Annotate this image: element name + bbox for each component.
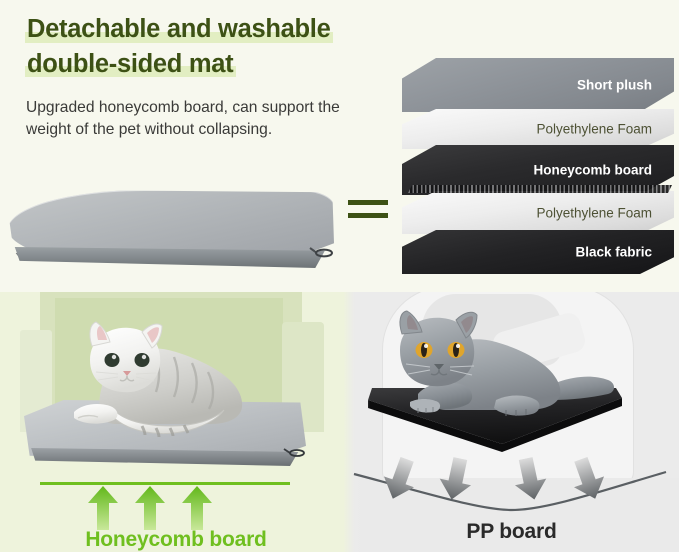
caption-honeycomb-board: Honeycomb board xyxy=(0,528,352,552)
subcopy-text: Upgraded honeycomb board, can support th… xyxy=(26,97,386,141)
arrow-down-icon xyxy=(508,455,552,504)
layer-label: Polyethylene Foam xyxy=(536,205,652,220)
comparison-panel-left: Honeycomb board xyxy=(0,292,352,552)
comparison-panel-right: PP board xyxy=(344,292,679,552)
layer-honeycomb-board: Honeycomb board xyxy=(402,145,674,195)
caption-pp-board: PP board xyxy=(344,520,679,544)
zipper-pull-icon xyxy=(282,445,306,459)
comparison-section: Honeycomb board xyxy=(0,292,679,552)
layer-label: Black fabric xyxy=(575,245,652,260)
infographic-page: Detachable and washable double-sided mat… xyxy=(0,0,679,552)
cat-gray-shorthair xyxy=(370,308,620,438)
arrow-down-icon xyxy=(564,453,612,505)
layer-label: Short plush xyxy=(577,78,652,93)
headline-line-1: Detachable and washable xyxy=(27,17,330,43)
arrow-up-icon xyxy=(133,486,167,530)
layer-label: Honeycomb board xyxy=(533,163,652,178)
layer-black-fabric: Black fabric xyxy=(402,230,674,274)
arrow-down-icon xyxy=(376,453,424,505)
up-arrow-group xyxy=(86,486,246,530)
headline-block: Detachable and washable double-sided mat xyxy=(27,17,397,77)
zipper-pull-icon xyxy=(308,244,334,259)
layer-short-plush: Short plush xyxy=(402,58,674,112)
arrow-up-icon xyxy=(86,486,120,530)
cat-white-tabby xyxy=(44,316,274,446)
arrow-down-icon xyxy=(434,455,478,504)
layer-stack-diagram: Short plush Polyethylene Foam Honeycomb … xyxy=(402,58,674,274)
corrugated-flutes xyxy=(404,185,672,193)
layer-polyethylene-foam-bottom: Polyethylene Foam xyxy=(402,191,674,234)
product-mat-illustration xyxy=(8,190,338,282)
down-arrow-group xyxy=(382,458,632,500)
equals-sign xyxy=(348,198,390,226)
layer-polyethylene-foam-top: Polyethylene Foam xyxy=(402,109,674,149)
headline-line-2: double-sided mat xyxy=(27,52,233,78)
top-section: Detachable and washable double-sided mat… xyxy=(0,0,679,292)
layer-label: Polyethylene Foam xyxy=(536,122,652,137)
support-line-straight xyxy=(40,482,290,485)
arrow-up-icon xyxy=(180,486,214,530)
